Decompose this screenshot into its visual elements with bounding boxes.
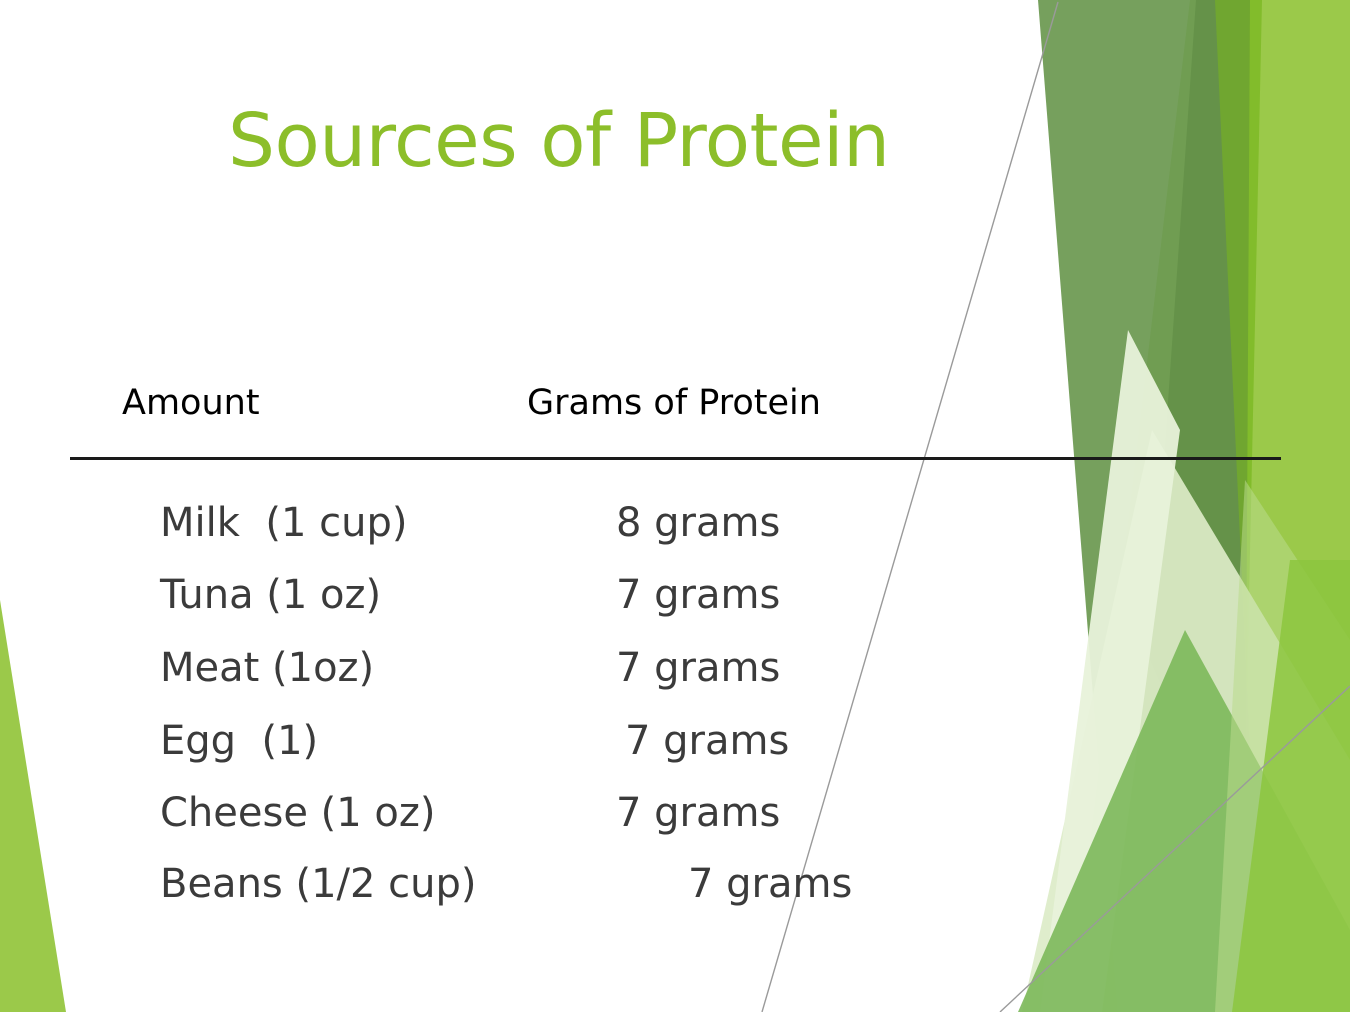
table-cell-food: Tuna (1 oz) — [160, 575, 381, 615]
table-row: Meat (1oz) 7 grams — [0, 648, 1350, 720]
table-row: Tuna (1 oz) 7 grams — [0, 575, 1350, 647]
table-cell-value: 7 grams — [616, 793, 780, 833]
table-cell-food: Milk (1 cup) — [160, 503, 407, 543]
table-row: Egg (1) 7 grams — [0, 721, 1350, 793]
table-header-grams-of-protein: Grams of Protein — [527, 386, 821, 421]
table-cell-food: Egg (1) — [160, 721, 318, 761]
table-cell-value: 7 grams — [625, 721, 789, 761]
table-header-amount: Amount — [122, 386, 260, 421]
table-cell-food: Beans (1/2 cup) — [160, 864, 477, 904]
table-row: Beans (1/2 cup) 7 grams — [0, 864, 1350, 936]
table-row: Milk (1 cup) 8 grams — [0, 503, 1350, 575]
protein-table: Amount Grams of Protein Milk (1 cup) 8 g… — [0, 0, 1350, 1012]
table-cell-value: 7 grams — [688, 864, 852, 904]
table-cell-value: 8 grams — [616, 503, 780, 543]
table-cell-value: 7 grams — [616, 575, 780, 615]
table-header-rule — [70, 457, 1281, 460]
table-cell-food: Meat (1oz) — [160, 648, 374, 688]
slide: Sources of Protein Amount Grams of Prote… — [0, 0, 1350, 1012]
table-cell-food: Cheese (1 oz) — [160, 793, 436, 833]
table-cell-value: 7 grams — [616, 648, 780, 688]
table-row: Cheese (1 oz) 7 grams — [0, 793, 1350, 865]
